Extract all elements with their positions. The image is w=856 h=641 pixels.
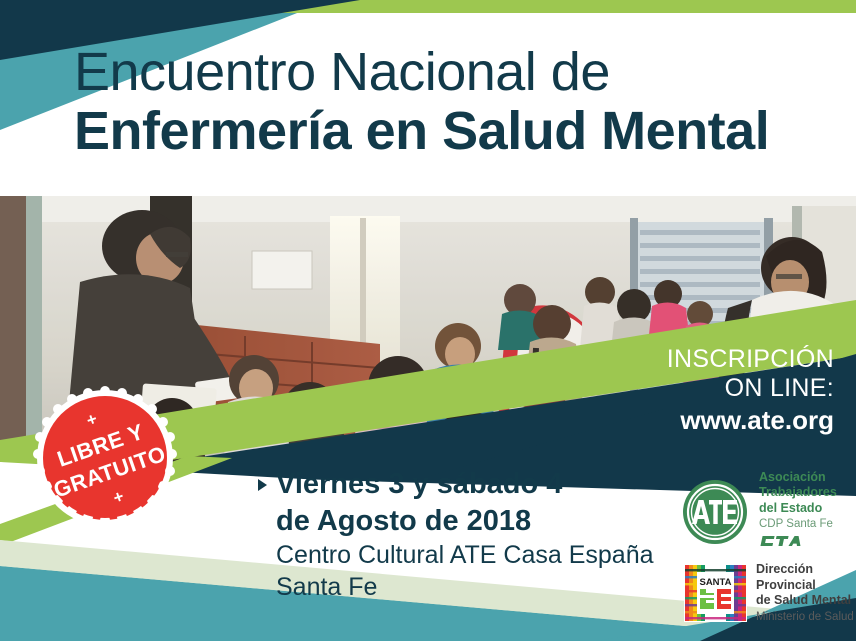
event-venue-line-2: Santa Fe xyxy=(276,572,654,604)
ate-line-4: CDP Santa Fe xyxy=(759,517,837,531)
event-venue-line-1: Centro Cultural ATE Casa España xyxy=(276,540,654,572)
santa-fe-line-2: Provincial xyxy=(756,578,854,594)
ate-emblem-icon xyxy=(681,478,749,546)
free-admission-badge: + LIBRE Y GRATUITO + xyxy=(31,384,179,532)
title-line-2: Enfermería en Salud Mental xyxy=(74,104,769,160)
poster-canvas: Encuentro Nacional de Enfermería en Salu… xyxy=(0,0,856,641)
santa-fe-line-3: de Salud Mental xyxy=(756,593,854,609)
santa-fe-line-1: Dirección xyxy=(756,562,854,578)
svg-text:SANTA: SANTA xyxy=(699,577,731,588)
arrow-bullet-icon xyxy=(258,479,267,491)
page-title: Encuentro Nacional de Enfermería en Salu… xyxy=(74,45,769,159)
event-date-line-1: Viernes 3 y sábado 4 xyxy=(276,468,562,500)
registration-info: INSCRIPCIÓN ON LINE: www.ate.org xyxy=(667,345,834,435)
event-details: Viernes 3 y sábado 4 de Agosto de 2018 C… xyxy=(258,466,654,603)
registration-label-line-1: INSCRIPCIÓN xyxy=(667,345,834,374)
ate-line-3: del Estado xyxy=(759,501,837,516)
santa-fe-emblem-icon: SANTA xyxy=(684,564,747,622)
registration-url[interactable]: www.ate.org xyxy=(667,405,834,435)
santa-fe-logo: SANTA Dirección Provincial de Salud Ment… xyxy=(684,562,854,624)
ate-line-1: Asociación xyxy=(759,470,837,485)
ate-line-2: Trabajadores xyxy=(759,485,837,500)
cta-logo-icon xyxy=(759,534,837,554)
title-line-1: Encuentro Nacional de xyxy=(74,45,769,101)
ate-logo: Asociación Trabajadores del Estado CDP S… xyxy=(681,470,837,553)
santa-fe-line-4: Ministerio de Salud xyxy=(756,610,854,624)
event-date-line-2: de Agosto de 2018 xyxy=(276,505,531,537)
registration-label-line-2: ON LINE: xyxy=(667,374,834,403)
